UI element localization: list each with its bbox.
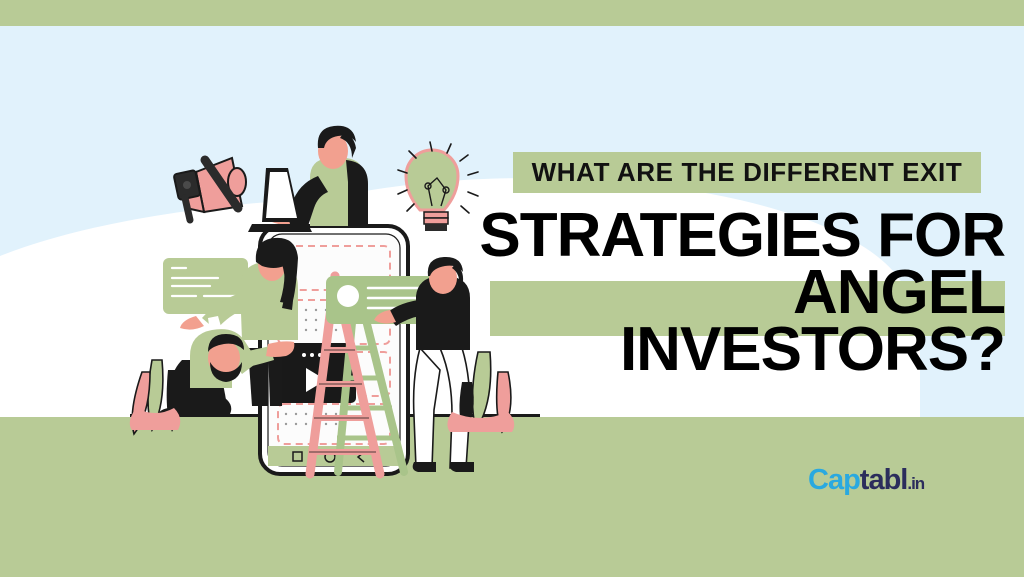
captabl-logo[interactable]: Captabl.in bbox=[808, 464, 924, 497]
logo-part-tabl: tabl bbox=[860, 464, 908, 496]
headline-line-2: ANGEL bbox=[0, 264, 1005, 321]
headline-line-1: STRATEGIES FOR bbox=[0, 207, 1005, 264]
logo-part-cap: Cap bbox=[808, 464, 860, 496]
headline-line-3: INVESTORS? bbox=[0, 321, 1005, 378]
promotional-banner: WHAT ARE THE DIFFERENT EXIT STRATEGIES F… bbox=[0, 0, 1024, 577]
subtitle-text: WHAT ARE THE DIFFERENT EXIT bbox=[513, 152, 981, 193]
logo-part-tld: .in bbox=[907, 474, 924, 493]
page-title: STRATEGIES FOR ANGEL INVESTORS? bbox=[0, 207, 1005, 378]
